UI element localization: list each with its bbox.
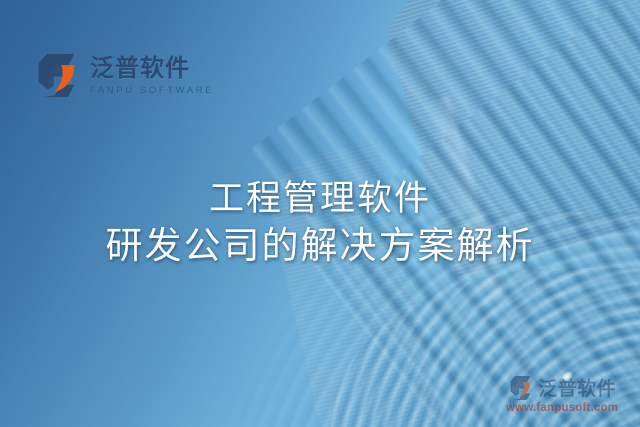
- watermark-logo-row: 泛普软件: [508, 374, 616, 401]
- brand-logo-lockup: 泛普软件 FANPU SOFTWARE: [34, 52, 214, 99]
- banner-canvas: 泛普软件 FANPU SOFTWARE 工程管理软件 研发公司的解决方案解析 泛…: [0, 0, 640, 427]
- watermark-name-cn: 泛普软件: [538, 374, 616, 401]
- fanpu-hexagon-logo-icon: [508, 375, 534, 401]
- brand-name-cn: 泛普软件: [90, 55, 214, 81]
- brand-name-en: FANPU SOFTWARE: [90, 85, 214, 96]
- brand-text-block: 泛普软件 FANPU SOFTWARE: [90, 55, 214, 96]
- watermark-block: 泛普软件 www.fanpusoft.com: [506, 374, 618, 414]
- watermark-url: www.fanpusoft.com: [506, 402, 618, 414]
- fanpu-hexagon-logo-icon: [34, 52, 81, 99]
